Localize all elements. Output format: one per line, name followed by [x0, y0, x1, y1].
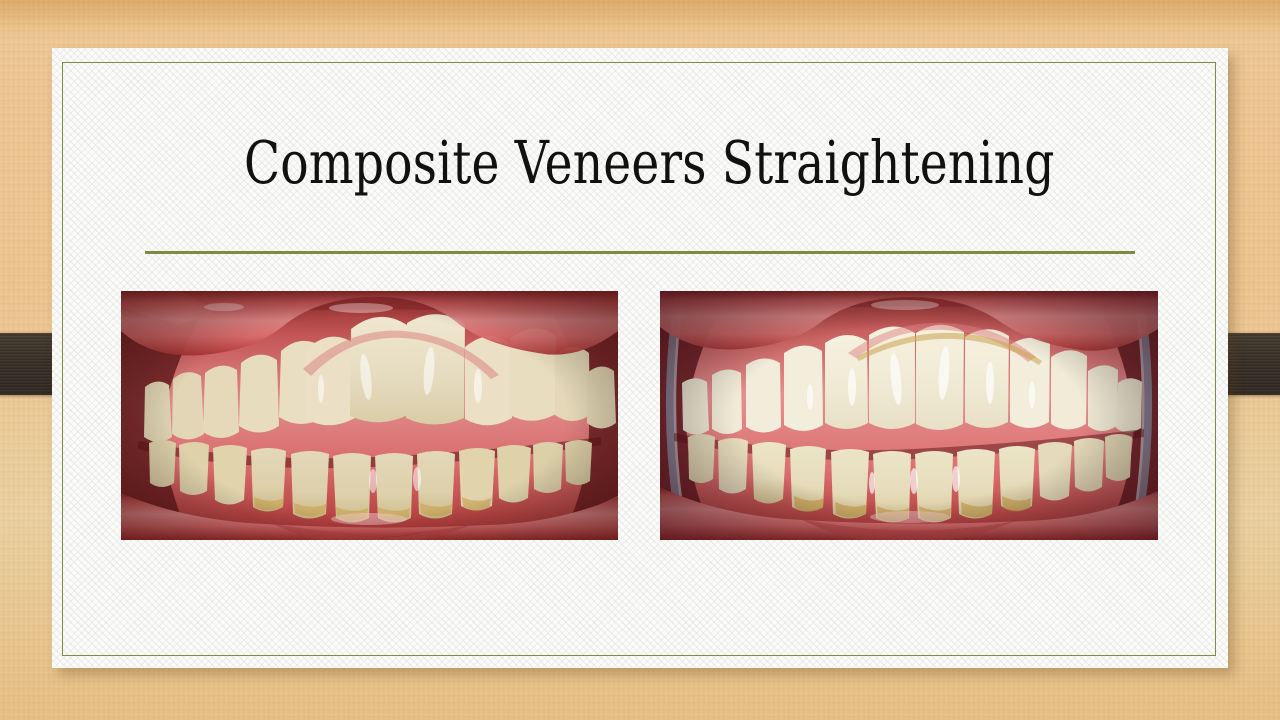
- before-photo-image: [121, 291, 618, 540]
- before-photo[interactable]: [121, 291, 618, 540]
- page-title: Composite Veneers Straightening: [244, 131, 1036, 195]
- background-top-band: [0, 0, 1280, 30]
- title-divider-line: [145, 251, 1135, 254]
- presentation-slide: Composite Veneers Straightening: [0, 0, 1280, 720]
- after-photo-image: [660, 291, 1158, 540]
- after-photo[interactable]: [660, 291, 1158, 540]
